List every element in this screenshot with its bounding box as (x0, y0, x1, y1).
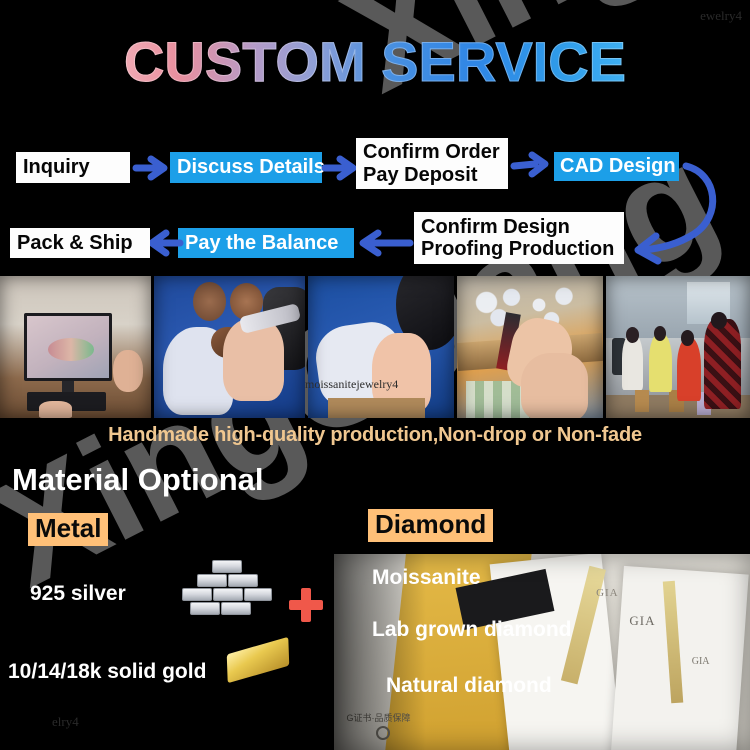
flow-step-pay-balance: Pay the Balance (178, 228, 354, 258)
flow-step-pay-balance-label: Pay the Balance (185, 232, 338, 254)
tagline: Handmade high-quality production,Non-dro… (0, 424, 750, 447)
flow-step-discuss-details-label: Discuss Details (177, 156, 325, 178)
metal-chip: Metal (28, 513, 108, 546)
flow-step-inquiry-label: Inquiry (23, 156, 90, 178)
arrow-pay-balance-to-pack-ship (148, 231, 182, 255)
flow-step-confirm-design: Confirm Design Proofing Production (414, 212, 624, 264)
diamond-chip: Diamond (368, 509, 493, 542)
stone-setting-microscope-photo (154, 276, 305, 418)
flow-step-inquiry: Inquiry (16, 152, 130, 183)
flow-step-confirm-order-line1: Confirm Order (363, 141, 500, 163)
small-watermark-bottom-left: elry4 (52, 714, 79, 730)
arrow-cad-to-confirm-design (614, 160, 734, 266)
plus-icon (289, 588, 323, 622)
arrow-inquiry-to-discuss (135, 157, 167, 179)
production-photo-strip (0, 276, 750, 418)
diamond-item-moissanite: Moissanite (372, 566, 481, 590)
custom-service-infographic: XingGuang XingGuang CUSTOM SERVICE Inqui… (0, 0, 750, 750)
diamond-item-lab-grown: Lab grown diamond (372, 618, 572, 642)
process-flowchart: Inquiry Discuss Details Confirm Order Pa… (0, 0, 750, 272)
metal-item-silver: 925 silver (30, 582, 126, 606)
material-optional-heading: Material Optional (12, 462, 263, 498)
arrow-confirm-design-to-pay-balance (358, 231, 412, 255)
polishing-buffing-photo (308, 276, 454, 418)
arrow-discuss-to-confirm-order (324, 157, 356, 179)
metal-item-gold: 10/14/18k solid gold (8, 660, 206, 684)
flow-step-confirm-order-line2: Pay Deposit (363, 164, 477, 186)
silver-bars-icon (178, 560, 274, 622)
gold-bar-icon (227, 637, 290, 683)
flow-step-confirm-order: Confirm Order Pay Deposit (356, 138, 508, 189)
flow-step-pack-ship-label: Pack & Ship (17, 232, 133, 254)
quality-check-packing-photo (457, 276, 603, 418)
workshop-team-photo (606, 276, 750, 418)
diamond-item-natural: Natural diamond (386, 674, 552, 698)
flow-step-pack-ship: Pack & Ship (10, 228, 150, 258)
flow-step-confirm-design-line1: Confirm Design (421, 216, 570, 238)
cad-design-workstation-photo (0, 276, 151, 418)
flow-step-confirm-design-line2: Proofing Production (421, 238, 614, 260)
arrow-confirm-order-to-cad (513, 153, 549, 177)
flow-step-discuss-details: Discuss Details (170, 152, 322, 183)
